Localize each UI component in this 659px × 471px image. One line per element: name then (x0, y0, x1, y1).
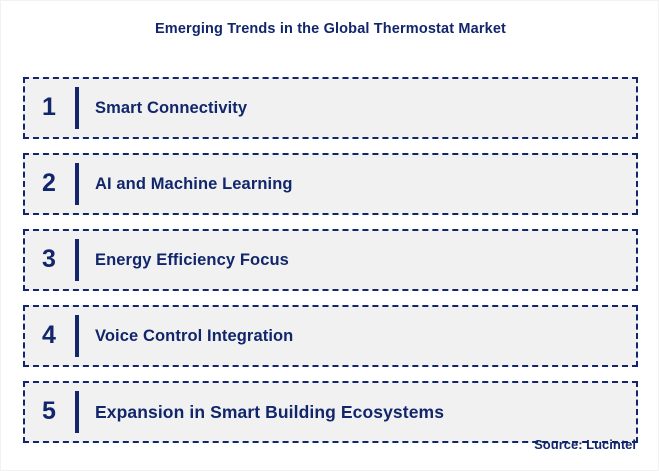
trend-row[interactable]: 5 Expansion in Smart Building Ecosystems (23, 381, 638, 443)
trend-rank: 2 (25, 171, 73, 198)
trend-row[interactable]: 4 Voice Control Integration (23, 305, 638, 367)
trend-rank: 5 (25, 399, 73, 426)
trend-label: Voice Control Integration (79, 327, 636, 346)
source-note: Source: Lucintel (534, 437, 636, 452)
page-title: Emerging Trends in the Global Thermostat… (1, 21, 659, 37)
infographic-frame: Emerging Trends in the Global Thermostat… (0, 0, 659, 471)
trend-label: AI and Machine Learning (79, 175, 636, 194)
trend-label: Expansion in Smart Building Ecosystems (79, 402, 636, 423)
trend-rank: 1 (25, 95, 73, 122)
trend-label: Energy Efficiency Focus (79, 251, 636, 270)
trend-rank: 3 (25, 247, 73, 274)
trend-rank: 4 (25, 323, 73, 350)
trend-label: Smart Connectivity (79, 99, 636, 118)
trend-row[interactable]: 3 Energy Efficiency Focus (23, 229, 638, 291)
trend-row[interactable]: 2 AI and Machine Learning (23, 153, 638, 215)
trend-list: 1 Smart Connectivity 2 AI and Machine Le… (23, 77, 638, 443)
trend-row[interactable]: 1 Smart Connectivity (23, 77, 638, 139)
